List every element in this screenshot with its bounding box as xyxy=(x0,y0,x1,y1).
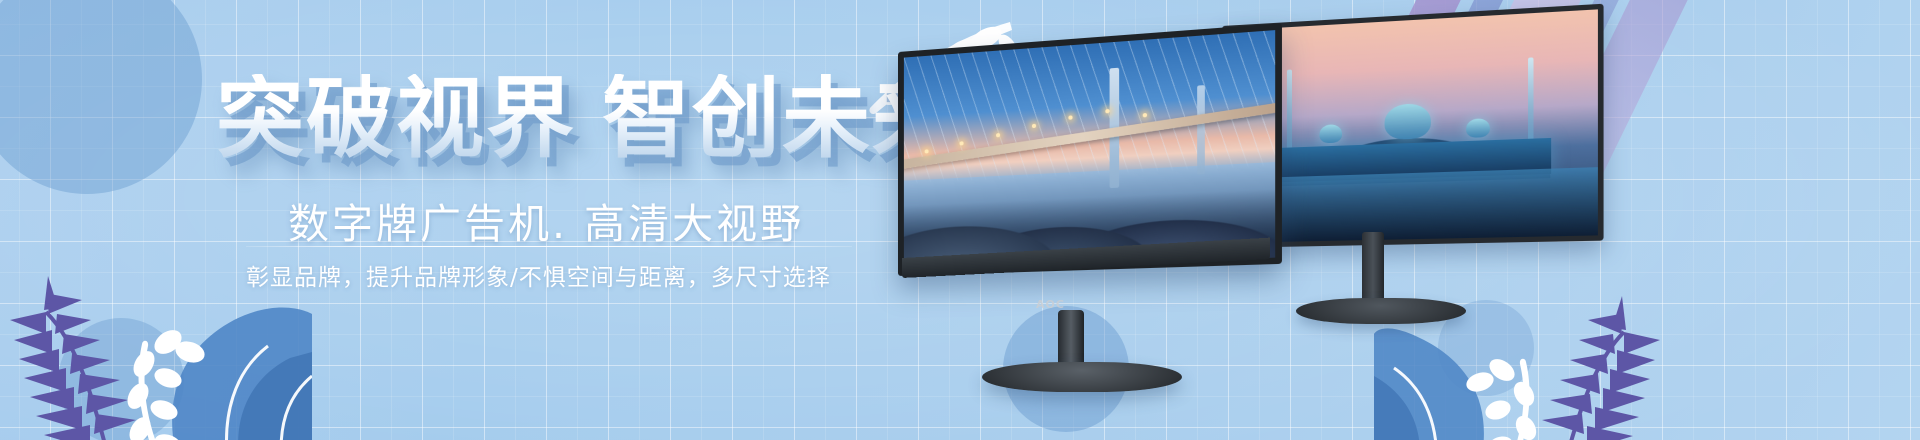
screen-image-bridge xyxy=(904,30,1275,270)
monitor-front-base xyxy=(982,362,1182,392)
text-block: 突破视界智创未来 数字牌广告机. 高清大视野 彰显品牌，提升品牌形象/不惧空间与… xyxy=(0,0,900,440)
monitor-back-base xyxy=(1296,298,1466,324)
page-title: 突破视界智创未来 xyxy=(216,74,962,164)
monitor-front-neck xyxy=(1058,310,1084,370)
monitor-front: AOC xyxy=(898,52,1298,382)
subtitle: 数字牌广告机. 高清大视野 xyxy=(288,190,804,250)
headline-part-1: 突破视界 xyxy=(216,67,576,170)
divider-rule xyxy=(246,246,852,247)
promo-banner: 突破视界智创未来 数字牌广告机. 高清大视野 彰显品牌，提升品牌形象/不惧空间与… xyxy=(0,0,1920,440)
monitor-back-neck xyxy=(1362,232,1384,304)
monitor-front-screen xyxy=(898,23,1282,276)
tagline: 彰显品牌，提升品牌形象/不惧空间与距离，多尺寸选择 xyxy=(246,258,831,292)
